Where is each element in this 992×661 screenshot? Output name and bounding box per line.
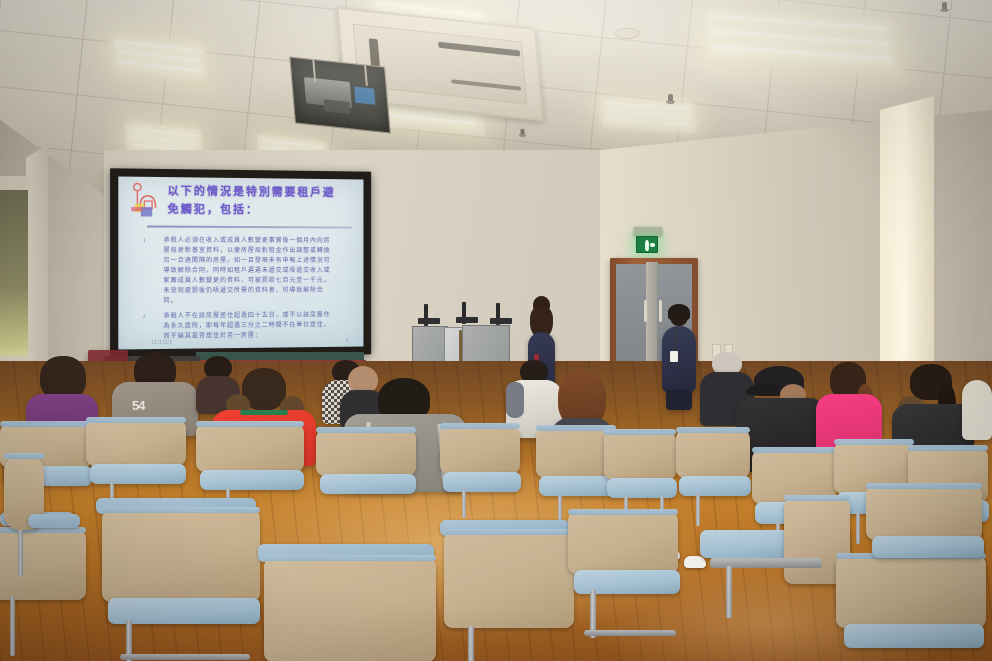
vest-shoulder — [506, 382, 524, 418]
slide-item-line: 同。 — [163, 297, 177, 307]
chair-seat — [844, 624, 984, 648]
slide-footer-date: 11/1/2/2 — [151, 340, 172, 346]
chair-leg — [468, 626, 474, 661]
slide-logo-icon — [129, 182, 164, 219]
chair[interactable] — [316, 430, 420, 520]
slide-item-line: 家團成員人數變更的資料，可被罰款七百元至一千元， — [163, 277, 330, 287]
chair-leg — [462, 490, 466, 518]
chair-leg — [726, 566, 732, 618]
chair[interactable] — [96, 498, 270, 661]
attendee-torso — [962, 380, 992, 440]
slide-item-number: 1 — [143, 238, 146, 246]
presenter-torso — [662, 326, 696, 392]
exit-sign-bracket — [634, 227, 662, 236]
chair-back — [316, 430, 416, 476]
chair[interactable] — [568, 512, 692, 642]
slide-footer-page: 6 — [346, 338, 349, 344]
slide-item-line: 為永久居所，即每年超過三分之二時間不在單位居住， — [163, 321, 330, 332]
chair-back — [866, 486, 982, 540]
running-man-icon — [645, 240, 649, 251]
slide-item-line: 導致解除合同。同時如租戶遲遲未遞交或唔遞交收入或 — [163, 267, 330, 277]
chair-leg — [856, 512, 860, 544]
whiteboard-bracket — [418, 318, 440, 324]
corner-pillar — [880, 96, 934, 396]
chair-leg — [10, 596, 15, 656]
chair[interactable] — [86, 420, 190, 510]
slide-item-line: 另一合適間隔的房屋。如一旦發現未有申報上述情況可 — [163, 257, 330, 267]
chair-back — [86, 420, 186, 466]
chair[interactable] — [440, 520, 580, 661]
presenter-right — [660, 306, 698, 408]
chair-back — [102, 510, 260, 602]
left-pillar — [26, 140, 48, 370]
window-blind[interactable] — [0, 190, 28, 366]
slide-item-line: 而不論其是否居住於另一房屋： — [163, 332, 261, 343]
slide-item-number: 2 — [143, 314, 146, 322]
presenter-legs — [666, 390, 692, 410]
chair-seat — [200, 470, 304, 490]
chair-leg — [696, 494, 700, 526]
slide-heading-line2: 免觸犯，包括： — [167, 202, 355, 219]
exit-arrow-icon — [650, 243, 655, 247]
collar-trim — [240, 410, 288, 415]
presenter-id-badge — [670, 351, 678, 362]
door-handle[interactable] — [644, 300, 647, 322]
chair-back — [604, 432, 676, 480]
chair-base-bar — [584, 630, 676, 636]
chair-seat — [679, 476, 751, 496]
chair-seat — [872, 536, 984, 558]
chair-back — [196, 424, 304, 472]
chair-leg — [18, 530, 23, 576]
chair-seat — [90, 464, 186, 484]
chair-back — [676, 430, 750, 478]
slide-item-line: 未受到處罰後仍唔遞交所需的資料者，可導致解除合 — [163, 287, 323, 298]
slide-item-line: 屋局更新基室資料，以便房屋局對租金作出調整或轉換 — [163, 247, 330, 257]
slide-heading-line1: 以下的情況是特別需要租戶避 — [167, 184, 355, 202]
slide-item-line: 承租人必須在收入或成員人數變更事實後一個月內向房 — [163, 237, 330, 247]
chair-back — [568, 512, 678, 574]
presenter-hair — [668, 304, 690, 320]
chair-seat — [320, 474, 416, 494]
chair-back — [444, 532, 574, 628]
attendee-far-right-edge — [962, 380, 992, 440]
chair-back — [264, 558, 436, 661]
chair-base-bar — [120, 654, 250, 660]
chair[interactable] — [440, 426, 524, 518]
chair-seat — [443, 472, 521, 492]
cap-brim — [746, 384, 780, 396]
jacket-print: 54 — [132, 398, 144, 413]
chair-armrest — [28, 514, 80, 528]
slide-divider — [147, 225, 352, 228]
seminar-room-photo: 以下的情況是特別需要租戶避 免觸犯，包括： 1 承租人必須在收入或成員人數變更事… — [0, 0, 992, 661]
exit-sign — [636, 236, 658, 253]
chair[interactable] — [258, 544, 446, 661]
chair[interactable] — [4, 456, 82, 576]
chair[interactable] — [866, 486, 992, 576]
chair-seat — [607, 478, 677, 498]
whiteboard-bracket — [490, 318, 512, 324]
chair-back — [440, 426, 520, 474]
projection-screen: 以下的情況是特別需要租戶避 免觸犯，包括： 1 承租人必須在收入或成員人數變更事… — [118, 177, 363, 350]
chair[interactable] — [700, 530, 850, 661]
whiteboard-bracket — [456, 317, 478, 323]
presenter-lanyard — [674, 328, 676, 352]
